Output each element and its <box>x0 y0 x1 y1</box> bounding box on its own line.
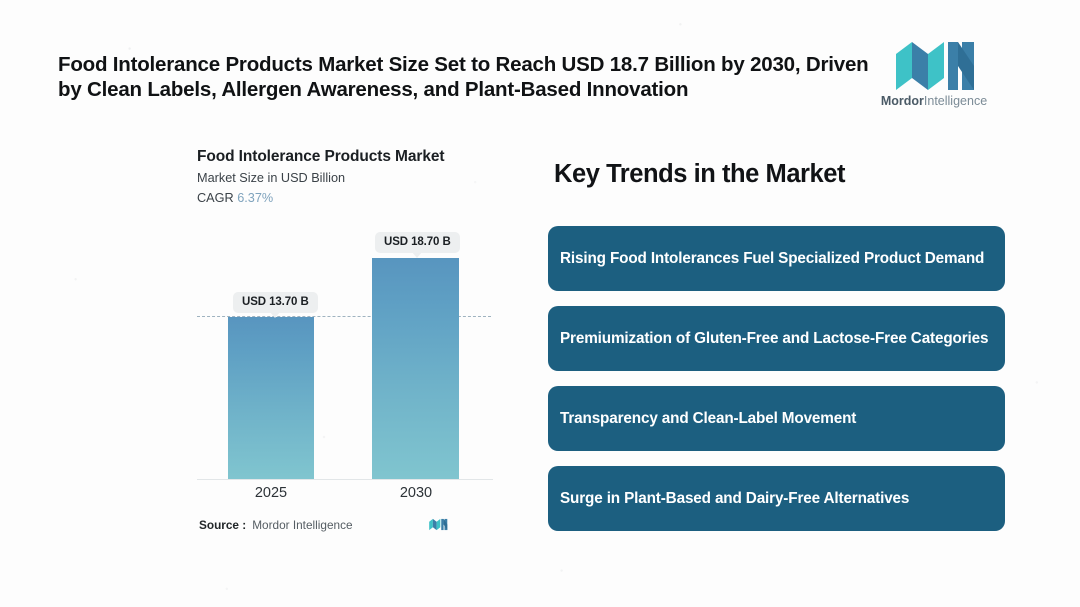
brand-name-light: Intelligence <box>924 94 987 108</box>
source-label: Source : <box>199 518 246 532</box>
bar-value-label-2025: USD 13.70 B <box>233 292 318 313</box>
trend-card-label: Transparency and Clean-Label Movement <box>560 408 856 429</box>
mordor-intelligence-logo: MordorIntelligence <box>878 40 990 112</box>
trend-card-4[interactable]: Surge in Plant-Based and Dairy-Free Alte… <box>548 466 1005 531</box>
mordor-logo-mark-small <box>425 516 451 533</box>
chart-baseline <box>197 479 493 480</box>
infographic-canvas: Food Intolerance Products Market Size Se… <box>0 0 1080 607</box>
trend-card-label: Surge in Plant-Based and Dairy-Free Alte… <box>560 488 909 509</box>
trend-card-2[interactable]: Premiumization of Gluten-Free and Lactos… <box>548 306 1005 371</box>
brand-wordmark: MordorIntelligence <box>878 94 990 108</box>
bar-2030[interactable] <box>372 258 459 479</box>
bar-2025[interactable] <box>228 317 314 479</box>
x-axis-tick-2025: 2025 <box>211 485 331 501</box>
key-trends-heading: Key Trends in the Market <box>554 160 845 189</box>
source-value: Mordor Intelligence <box>252 518 352 532</box>
bar-value-label-2030: USD 18.70 B <box>375 232 460 253</box>
trend-card-3[interactable]: Transparency and Clean-Label Movement <box>548 386 1005 451</box>
x-axis-tick-2030: 2030 <box>356 485 476 501</box>
bar-chart-plot-area: USD 13.70 B USD 18.70 B 2025 2030 <box>0 0 520 540</box>
mordor-logo-mark <box>878 40 990 92</box>
trend-card-label: Premiumization of Gluten-Free and Lactos… <box>560 328 988 349</box>
source-attribution: Source : Mordor Intelligence <box>199 516 451 533</box>
trend-card-1[interactable]: Rising Food Intolerances Fuel Specialize… <box>548 226 1005 291</box>
key-trends-list: Rising Food Intolerances Fuel Specialize… <box>548 226 1005 546</box>
trend-card-label: Rising Food Intolerances Fuel Specialize… <box>560 248 984 269</box>
brand-name-bold: Mordor <box>881 94 924 108</box>
